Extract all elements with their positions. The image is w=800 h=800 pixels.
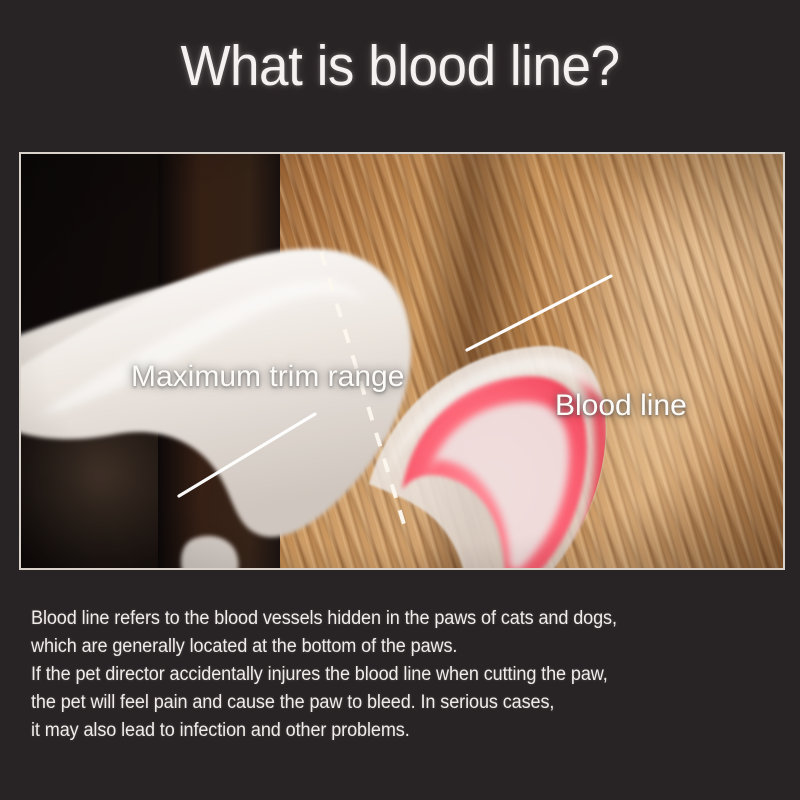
label-blood-line: Blood line xyxy=(555,391,687,421)
page-title: What is blood line? xyxy=(28,38,772,95)
description-line: Blood line refers to the blood vessels h… xyxy=(31,605,734,633)
illustration-frame: Maximum trim range Blood line Nail xyxy=(19,152,785,570)
description-paragraph: Blood line refers to the blood vessels h… xyxy=(31,605,734,745)
paw-claw-photo: Maximum trim range Blood line Nail xyxy=(21,154,783,568)
description-line: If the pet director accidentally injures… xyxy=(31,661,734,689)
description-line: the pet will feel pain and cause the paw… xyxy=(31,689,734,717)
label-maximum-trim-range: Maximum trim range xyxy=(131,362,404,392)
description-line: which are generally located at the botto… xyxy=(31,633,734,661)
description-line: it may also lead to infection and other … xyxy=(31,717,734,745)
infographic-page: What is blood line? xyxy=(0,0,800,800)
